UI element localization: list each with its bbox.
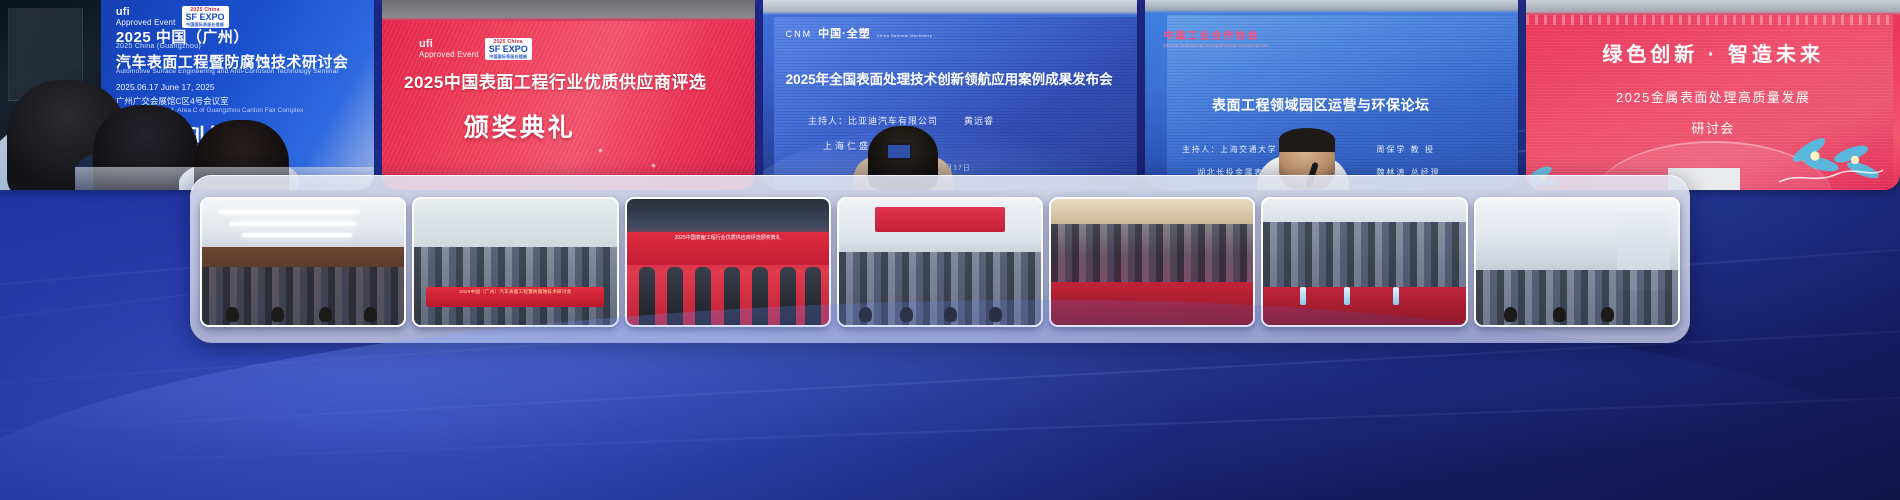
seated-guests [1051, 224, 1253, 290]
awardee [667, 267, 683, 325]
hero-panel-results-release[interactable]: CNM 中国·全塑 China National Machinery 2025年… [763, 0, 1137, 190]
panel4-host-label: 主持人： [1182, 145, 1220, 154]
water-bottle [1344, 287, 1350, 305]
panel2-title-cn-1: 2025中国表面工程行业优质供应商评选 [404, 68, 755, 93]
attendee-head [271, 307, 284, 322]
attendee-head [900, 307, 913, 322]
panel4-host-name-1: 周保学 教 授 [1376, 144, 1434, 155]
red-table [1263, 287, 1465, 325]
thumbnail-exhibition-floor[interactable] [1474, 197, 1680, 327]
sf-expo-logo-icon: 2025 China SF EXPO 中国国际表面处理展 [485, 38, 532, 60]
awardee [805, 267, 821, 325]
panel3-title-cn-1: 2025年全国表面处理技术创新领航应用案例成果发布会 [786, 68, 1130, 88]
group-photo-banner-text: 2025中国（广州）汽车表面工程暨防腐蚀技术研讨会 [426, 287, 604, 297]
water-bottle [1300, 287, 1306, 305]
stage-banner-text: 2025中国表面工程行业优质供应商评选颁奖典礼 [627, 232, 829, 245]
hero-panel-registration-signage[interactable]: ufi Approved Event 2025 China SF EXPO 中国… [0, 0, 374, 190]
panel3-org-logo: CNM 中国·全塑 China National Machinery [786, 25, 933, 41]
awardee [639, 267, 655, 325]
panel3-host-org-2: 上海仁盛 [823, 141, 871, 151]
thumbnail-front-row-guests[interactable] [1049, 197, 1255, 327]
panel5-title-cn-1: 绿色创新 · 智造未来 [1549, 38, 1878, 67]
flower-decoration-icon [1775, 120, 1885, 190]
thumbnail-conference-hall[interactable] [200, 197, 406, 327]
hero-panel-green-innovation[interactable]: 绿色创新 · 智造未来 2025金属表面处理高质量发展 研讨会 [1526, 0, 1900, 190]
phone-screen-icon [886, 143, 912, 160]
hero-panel-row: ufi Approved Event 2025 China SF EXPO 中国… [0, 0, 1900, 190]
panel1-title-en-2: Automotive Surface Engineering and Anti-… [116, 68, 339, 75]
awardee [780, 267, 796, 325]
ceiling-light [218, 210, 360, 214]
stage-backdrop [875, 207, 1004, 232]
ceiling-light [230, 222, 355, 226]
visitor-head [1504, 307, 1517, 322]
panel2-title-cn-2: 颁奖典礼 [464, 108, 576, 144]
background-streak [0, 384, 1900, 472]
visitor-head [1553, 307, 1566, 322]
seated-guests [1263, 222, 1465, 293]
panel3-host-label: 主持人： [808, 116, 848, 126]
stage-banner: 2025中国表面工程行业优质供应商评选颁奖典礼 [627, 232, 829, 265]
ufi-logo-icon: ufi Approved Event [116, 7, 176, 27]
hero-panel-park-forum[interactable]: 中国工业合作协会 China Industrial Cooperation As… [1145, 0, 1519, 190]
attendee-head [989, 307, 1002, 322]
ufi-logo-icon: ufi Approved Event [419, 39, 479, 59]
group-photo-banner: 2025中国（广州）汽车表面工程暨防腐蚀技术研讨会 [426, 287, 604, 307]
visitor-head [1601, 307, 1614, 322]
lace-border-decoration [1526, 15, 1892, 25]
awardee [752, 267, 768, 325]
panel4-host-row-1: 主持人：上海交通大学 [1182, 144, 1277, 155]
thumbnail-row: 2025中国（广州）汽车表面工程暨防腐蚀技术研讨会 2025中国表面工程行业优质… [200, 197, 1680, 327]
thumbnail-award-stage[interactable]: 2025中国表面工程行业优质供应商评选颁奖典礼 [625, 197, 831, 327]
attendee-head [226, 307, 239, 322]
collage-banner: ufi Approved Event 2025 China SF EXPO 中国… [0, 0, 1900, 500]
panel1-logo-group: ufi Approved Event 2025 China SF EXPO 中国… [116, 6, 229, 28]
panel4-title-cn-1: 表面工程领域园区运营与环保论坛 [1212, 95, 1430, 115]
sparkle-icon [651, 163, 656, 168]
sparkle-icon [598, 148, 603, 153]
red-table [1051, 282, 1253, 325]
panel3-host-name-1: 黄远睿 [964, 116, 994, 126]
hero-panel-award-ceremony[interactable]: ufi Approved Event 2025 China SF EXPO 中国… [382, 0, 756, 190]
panel1-title-en-1: 2025 China (Guangzhou) [116, 43, 201, 50]
speaker-hair [1279, 128, 1335, 152]
panel3-host-org-1: 比亚迪汽车有限公司 [848, 116, 938, 126]
panel2-logo-group: ufi Approved Event 2025 China SF EXPO 中国… [419, 38, 532, 60]
attendee-head [319, 307, 332, 322]
awardee [695, 267, 711, 325]
attendee-head [364, 307, 377, 322]
sf-expo-logo-icon: 2025 China SF EXPO 中国国际表面处理展 [182, 6, 229, 28]
thumbnail-panel-table-guests[interactable] [1261, 197, 1467, 327]
thumbnail-audience-seated[interactable] [837, 197, 1043, 327]
panel4-association-logo: 中国工业合作协会 China Industrial Cooperation As… [1163, 27, 1268, 48]
attendee-head [859, 307, 872, 322]
panel1-date-line: 2025.06.17 June 17, 2025 [116, 82, 215, 92]
group-of-people [414, 247, 616, 325]
panel4-host-org-1: 上海交通大学 [1220, 145, 1277, 154]
thumbnail-group-photo-outdoor[interactable]: 2025中国（广州）汽车表面工程暨防腐蚀技术研讨会 [412, 197, 618, 327]
attendee-head [944, 307, 957, 322]
awardee [724, 267, 740, 325]
panel5-title-cn-2: 2025金属表面处理高质量发展 [1549, 87, 1878, 106]
water-bottle [1393, 287, 1399, 305]
ceiling-light [242, 233, 351, 237]
